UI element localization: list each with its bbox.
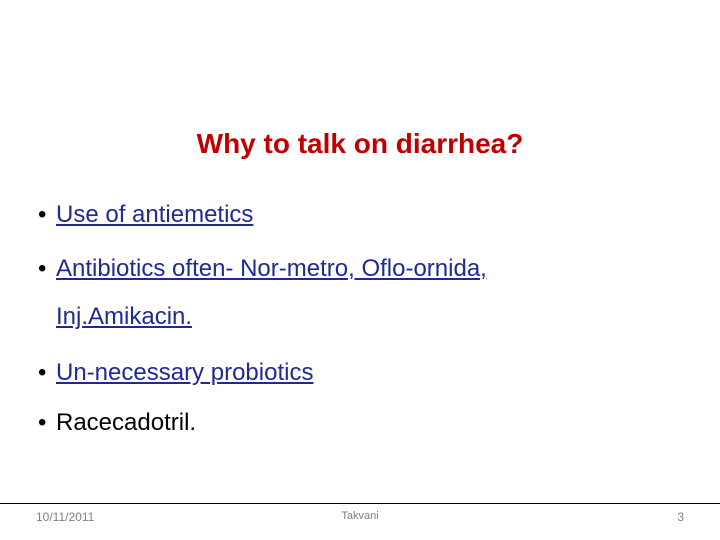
bullet-marker-icon: •	[30, 252, 56, 286]
list-item: • Racecadotril.	[30, 406, 690, 440]
bullet-text-2-line1: Antibiotics often- Nor-metro, Oflo-ornid…	[56, 255, 487, 282]
slide-footer: 10/11/2011 Takvani 3	[0, 503, 720, 540]
bullet-marker-icon: •	[30, 198, 56, 232]
page-title: Why to talk on diarrhea?	[0, 128, 720, 160]
footer-author: Takvani	[0, 510, 720, 522]
footer-page-number: 3	[677, 510, 684, 524]
bullet-list: • Use of antiemetics • Antibiotics often…	[30, 198, 690, 452]
bullet-text-2-line2: Inj.Amikacin.	[56, 300, 487, 334]
list-item: • Use of antiemetics	[30, 198, 690, 232]
bullet-text-2[interactable]: Antibiotics often- Nor-metro, Oflo-ornid…	[56, 252, 487, 334]
list-item: • Un-necessary probiotics	[30, 356, 690, 390]
bullet-text-3[interactable]: Un-necessary probiotics	[56, 356, 313, 390]
list-item: • Antibiotics often- Nor-metro, Oflo-orn…	[30, 252, 690, 334]
bullet-marker-icon: •	[30, 356, 56, 390]
bullet-text-1[interactable]: Use of antiemetics	[56, 198, 253, 232]
bullet-text-4: Racecadotril.	[56, 406, 196, 440]
bullet-marker-icon: •	[30, 406, 56, 440]
slide: Why to talk on diarrhea? • Use of antiem…	[0, 0, 720, 540]
